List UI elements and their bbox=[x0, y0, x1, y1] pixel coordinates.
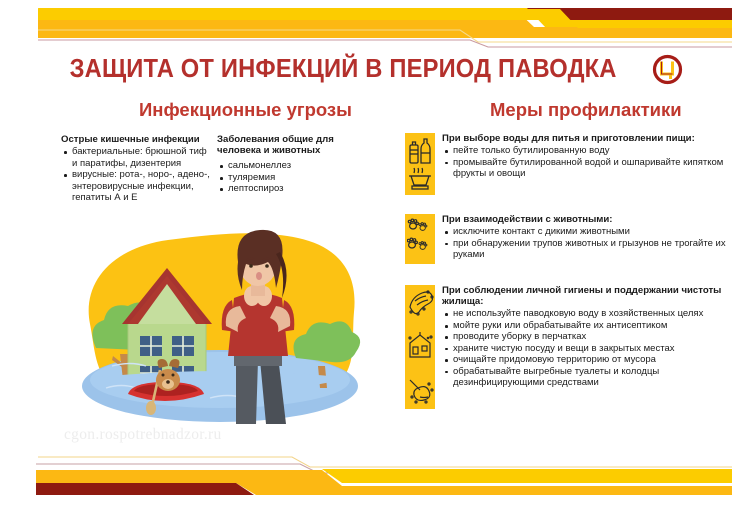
measure-heading: При взаимодействии с животными: bbox=[442, 214, 730, 225]
measure-heading: При выборе воды для питья и приготовлени… bbox=[442, 133, 730, 144]
list-item: исключите контакт с дикими животными bbox=[442, 226, 730, 237]
measure-body: При взаимодействии с животными: исключит… bbox=[435, 214, 730, 261]
measure-body: При выборе воды для питья и приготовлени… bbox=[435, 133, 730, 180]
site-watermark: cgon.rospotrebnadzor.ru bbox=[64, 426, 222, 444]
illustration-graphic bbox=[60, 228, 380, 428]
logo-graphic bbox=[652, 54, 683, 85]
threats-group-intestinal: Острые кишечные инфекции бактериальные: … bbox=[61, 134, 211, 204]
section-heading-measures: Меры профилактики bbox=[490, 99, 682, 121]
measure-list: не используйте паводковую воду в хозяйст… bbox=[442, 308, 730, 388]
list-item: обрабатывайте выгребные туалеты и колодц… bbox=[442, 366, 730, 389]
measure-icon-strip bbox=[405, 285, 435, 409]
list-item: проводите уборку в перчатках bbox=[442, 331, 730, 342]
measure-body: При соблюдении личной гигиены и поддержа… bbox=[435, 285, 730, 389]
measure-heading: При соблюдении личной гигиены и поддержа… bbox=[442, 285, 730, 307]
list-item: мойте руки или обрабатывайте их антисепт… bbox=[442, 320, 730, 331]
bottom-banner-graphic bbox=[0, 442, 732, 506]
list-item: при обнаружении трупов животных и грызун… bbox=[442, 238, 730, 261]
list-item: сальмонеллез bbox=[217, 160, 357, 171]
boiling-pot-icon bbox=[407, 167, 433, 191]
page-title: ЗАЩИТА ОТ ИНФЕКЦИЙ В ПЕРИОД ПАВОДКА bbox=[70, 55, 617, 84]
top-banner-graphic bbox=[0, 0, 732, 48]
threats-group-list: бактериальные: брюшной тиф и паратифы, д… bbox=[61, 146, 211, 203]
list-item: храните чистую посуду и вещи в закрытых … bbox=[442, 343, 730, 354]
list-item: туляремия bbox=[217, 172, 357, 183]
title-row: ЗАЩИТА ОТ ИНФЕКЦИЙ В ПЕРИОД ПАВОДКА bbox=[0, 52, 732, 86]
paw-prints-icon bbox=[407, 217, 433, 259]
measure-block-water: При выборе воды для питья и приготовлени… bbox=[405, 133, 730, 195]
broom-icon bbox=[407, 375, 434, 405]
threats-group-zoonotic: Заболевания общие для человека и животны… bbox=[217, 134, 357, 195]
measure-icon-strip bbox=[405, 214, 435, 264]
list-item: не используйте паводковую воду в хозяйст… bbox=[442, 308, 730, 319]
measure-block-hygiene: При соблюдении личной гигиены и поддержа… bbox=[405, 285, 730, 409]
threats-group-subheading: Заболевания общие для человека и животны… bbox=[217, 134, 357, 156]
bottom-decorative-banner bbox=[0, 442, 732, 506]
measure-block-animals: При взаимодействии с животными: исключит… bbox=[405, 214, 730, 264]
threats-group-list: сальмонеллез туляремия лептоспироз bbox=[217, 160, 357, 194]
measure-list: исключите контакт с дикими животными при… bbox=[442, 226, 730, 260]
washing-hands-icon bbox=[407, 287, 434, 317]
water-bottles-icon bbox=[407, 136, 433, 166]
list-item: бактериальные: брюшной тиф и паратифы, д… bbox=[61, 146, 211, 169]
infographic-poster: ЗАЩИТА ОТ ИНФЕКЦИЙ В ПЕРИОД ПАВОДКА Инфе… bbox=[0, 0, 732, 506]
house-cleaning-icon bbox=[407, 331, 434, 361]
list-item: пейте только бутилированную воду bbox=[442, 145, 730, 156]
list-item: лептоспироз bbox=[217, 183, 357, 194]
list-item: очищайте придомовую территорию от мусора bbox=[442, 354, 730, 365]
list-item: вирусные: рота-, норо-, адено-, энтерови… bbox=[61, 169, 211, 203]
threats-group-subheading: Острые кишечные инфекции bbox=[61, 134, 211, 145]
cgon-rospotrebnadzor-logo bbox=[652, 54, 683, 85]
flooded-village-woman-illustration bbox=[60, 228, 380, 428]
top-decorative-banner bbox=[0, 0, 732, 48]
list-item: промывайте бутилированной водой и ошпари… bbox=[442, 157, 730, 180]
measure-icon-strip bbox=[405, 133, 435, 195]
measure-list: пейте только бутилированную воду промыва… bbox=[442, 145, 730, 179]
section-heading-threats: Инфекционные угрозы bbox=[139, 99, 352, 121]
